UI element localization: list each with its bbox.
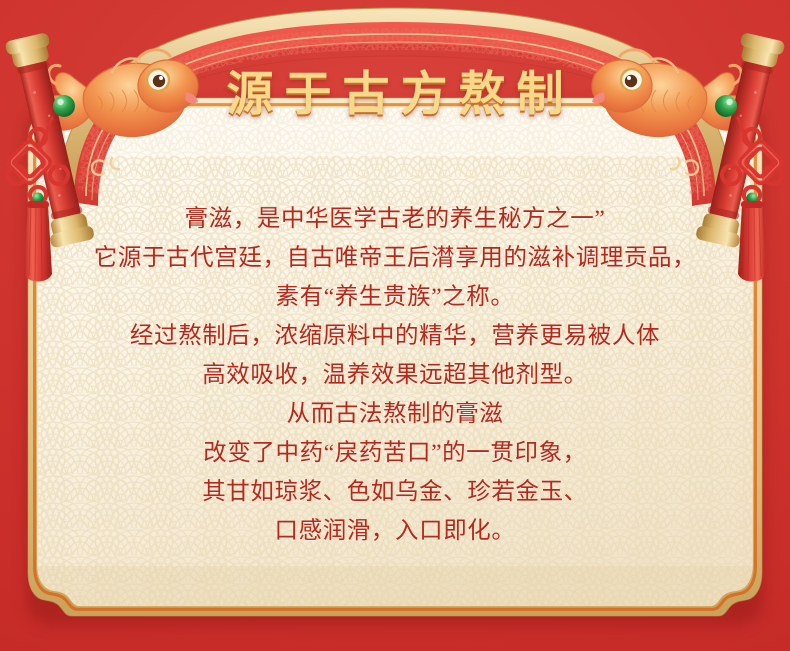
copy-line-8: 其甘如琼浆、色如乌金、珍若金玉、 — [26, 473, 764, 512]
copy-line-5: 高效吸收，温养效果远超其他剂型。 — [26, 356, 764, 395]
poster-root: 膏滋，是中华医学古老的养生秘方之一” 它源于古代宫廷，自古唯帝王后潸享用的滋补调… — [0, 0, 790, 651]
copy-line-6: 从而古法熬制的膏滋 — [26, 395, 764, 434]
scroll-rod-left — [4, 32, 95, 248]
copy-line-7: 改变了中药“戾药苦口”的一贯印象， — [26, 434, 764, 473]
scroll-hardware — [0, 30, 790, 330]
bead-left-icon — [53, 95, 75, 117]
copy-line-9: 口感润滑，入口即化。 — [26, 512, 764, 551]
bead-right-icon — [715, 95, 737, 117]
scroll-rod-right — [695, 32, 786, 248]
